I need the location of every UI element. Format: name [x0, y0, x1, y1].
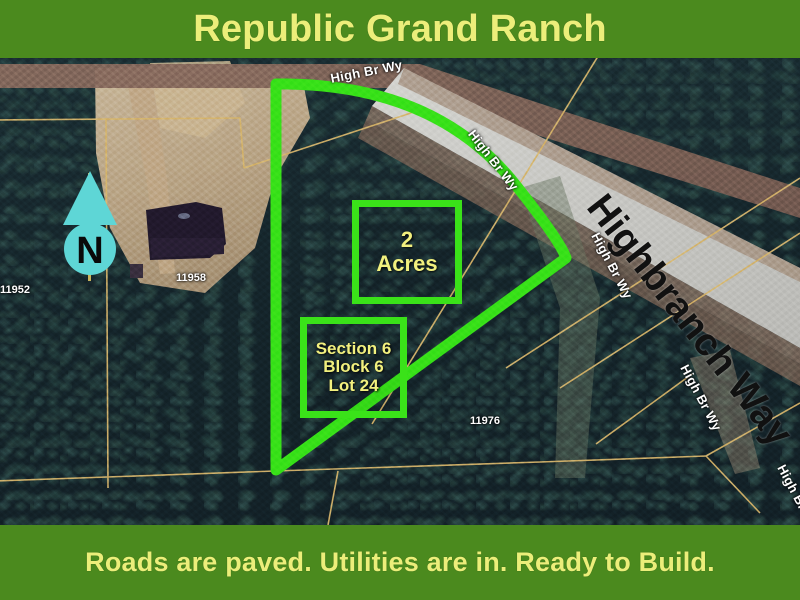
- legal-section: Section 6: [316, 340, 392, 358]
- acreage-value: 2: [401, 228, 413, 252]
- infographic-map-card: Republic Grand Ranch: [0, 0, 800, 600]
- legal-description-callout-box: Section 6 Block 6 Lot 24: [300, 317, 407, 418]
- legal-block: Block 6: [323, 358, 383, 376]
- north-arrow-compass: N: [59, 169, 121, 284]
- acreage-unit: Acres: [376, 252, 437, 276]
- footer-banner: Roads are paved. Utilities are in. Ready…: [0, 525, 800, 600]
- compass-needle-icon: [63, 171, 117, 225]
- header-banner: Republic Grand Ranch: [0, 0, 800, 58]
- acreage-callout-box: 2 Acres: [352, 200, 462, 304]
- page-title: Republic Grand Ranch: [193, 8, 607, 51]
- aerial-map[interactable]: N 2 Acres Section 6 Block 6 Lot 24 Highb…: [0, 58, 800, 525]
- legal-lot: Lot 24: [328, 377, 378, 395]
- compass-north-label: N: [76, 230, 103, 272]
- footer-tagline: Roads are paved. Utilities are in. Ready…: [85, 547, 715, 578]
